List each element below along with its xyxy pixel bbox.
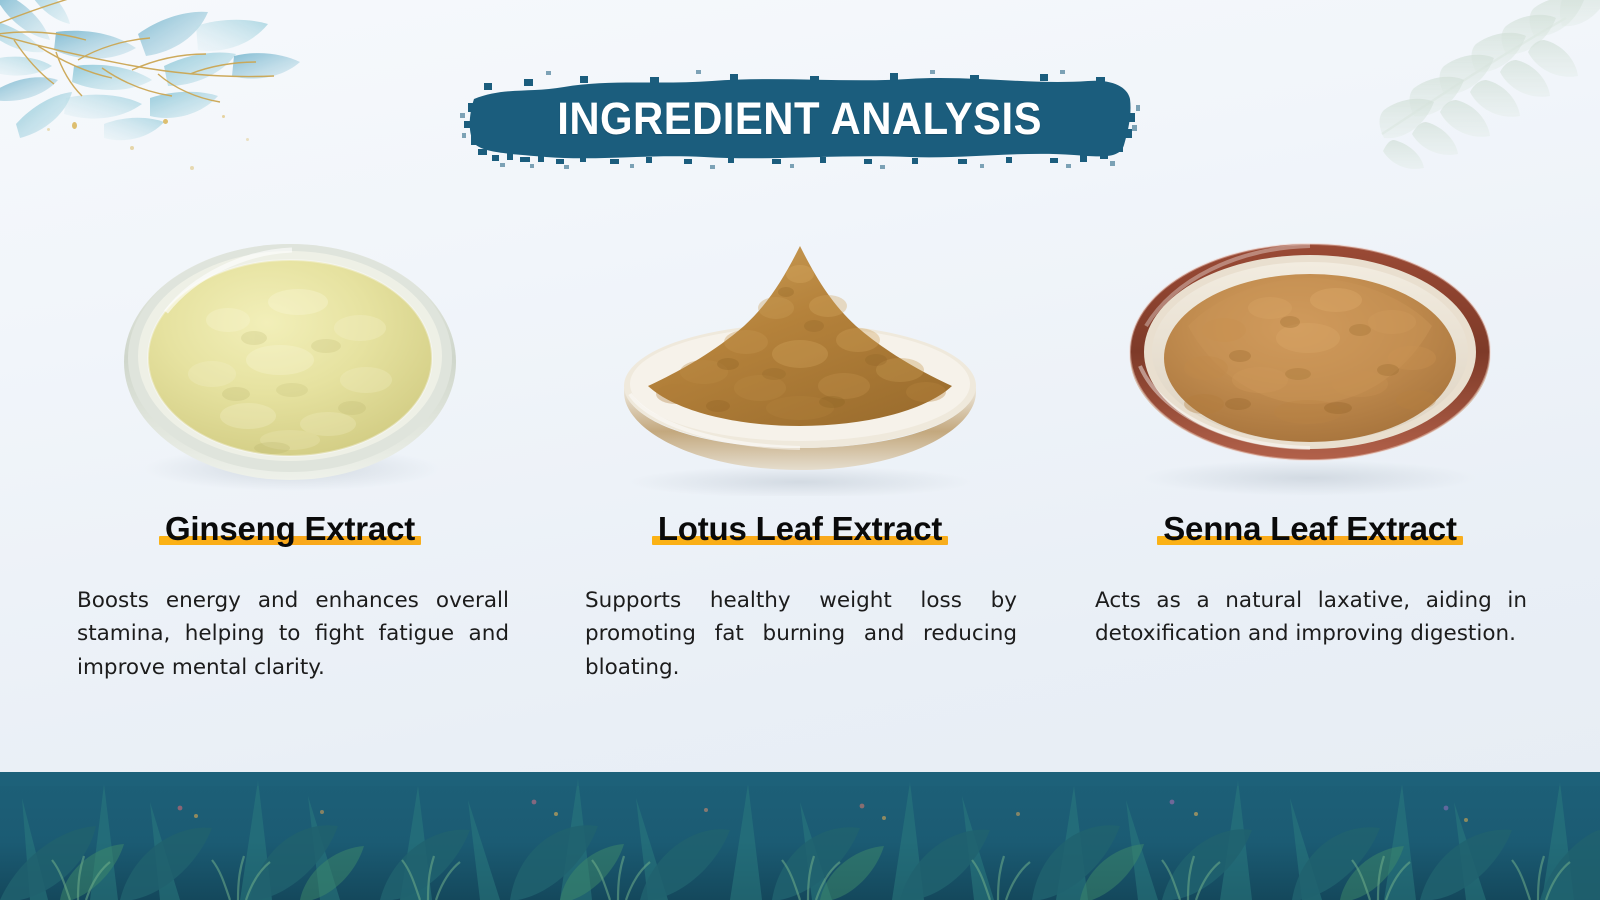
ingredient-description: Supports healthy weight loss by promotin… [579, 584, 1021, 686]
title-banner: INGREDIENT ANALYSIS [0, 66, 1600, 172]
ingredient-heading-ginseng: Ginseng Extract [165, 510, 415, 548]
ingredient-title: Lotus Leaf Extract [658, 510, 942, 547]
ceramic-bowl-senna-leaf-icon [1120, 234, 1500, 496]
ingredient-image-ginseng [74, 228, 506, 496]
ingredient-description: Boosts energy and enhances overall stami… [67, 584, 513, 686]
ingredient-card-senna-leaf: Senna Leaf Extract Acts as a natural lax… [1094, 228, 1526, 707]
powder-dish-lotus-leaf-icon [600, 234, 1000, 496]
poster-canvas: INGREDIENT ANALYSIS [0, 0, 1600, 900]
ingredient-card-ginseng: Ginseng Extract Boosts energy and enhanc… [74, 228, 506, 707]
ingredient-title: Senna Leaf Extract [1163, 510, 1457, 547]
ingredient-columns: Ginseng Extract Boosts energy and enhanc… [0, 228, 1600, 707]
ingredient-card-lotus-leaf: Lotus Leaf Extract Supports healthy weig… [584, 228, 1016, 707]
page-title: INGREDIENT ANALYSIS [558, 93, 1043, 145]
petri-dish-ginseng-icon [120, 234, 460, 496]
ingredient-image-senna-leaf [1094, 228, 1526, 496]
foliage-illustration [0, 772, 1600, 900]
ingredient-image-lotus-leaf [584, 228, 1016, 496]
ingredient-heading-lotus-leaf: Lotus Leaf Extract [658, 510, 942, 548]
ingredient-title: Ginseng Extract [165, 510, 415, 547]
ingredient-description: Acts as a natural laxative, aiding in de… [1089, 584, 1531, 652]
ingredient-heading-senna-leaf: Senna Leaf Extract [1163, 510, 1457, 548]
decoration-bottom-foliage-band [0, 772, 1600, 900]
